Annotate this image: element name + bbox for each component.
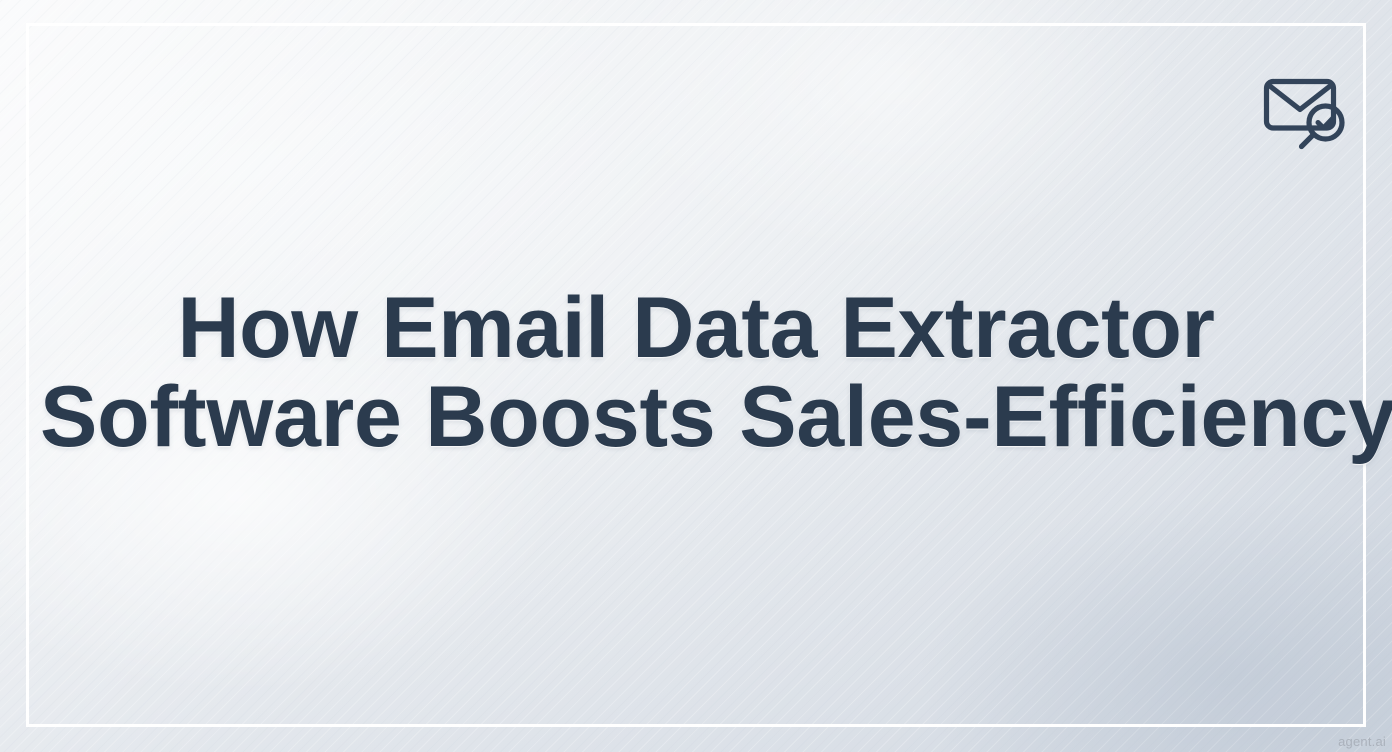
page-title: How Email Data Extractor Software Boosts… bbox=[0, 284, 1392, 463]
background-shadow-corner bbox=[919, 496, 1392, 752]
title-card: How Email Data Extractor Software Boosts… bbox=[0, 0, 1392, 752]
page-title-line-1: How Email Data Extractor bbox=[40, 284, 1352, 373]
page-title-line-2: Software Boosts Sales-Efficiency bbox=[40, 373, 1352, 462]
background-highlight-top bbox=[612, 0, 1169, 256]
email-search-verified-icon bbox=[1263, 62, 1351, 150]
watermark-label: agent.ai bbox=[1338, 734, 1386, 749]
